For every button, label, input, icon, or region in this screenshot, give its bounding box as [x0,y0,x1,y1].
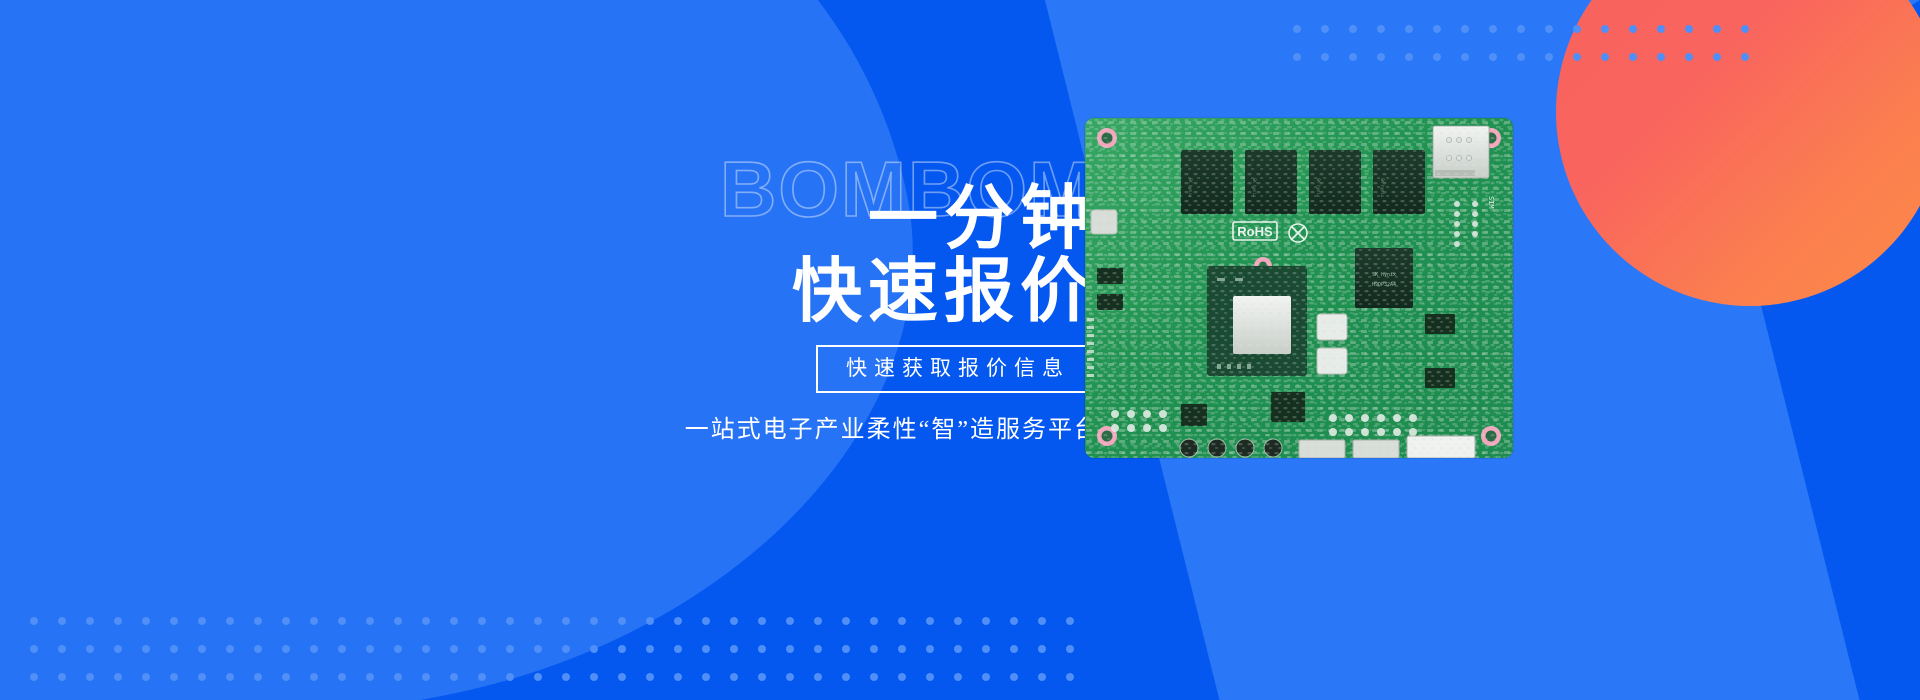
dot [226,673,234,681]
dot [842,673,850,681]
dot [1713,25,1721,33]
dot [1293,25,1301,33]
dot [1489,25,1497,33]
dot [282,673,290,681]
dot [366,673,374,681]
dot [982,645,990,653]
dot [1741,25,1749,33]
dot-row [1293,25,1769,33]
dot [1685,53,1693,61]
dot [590,617,598,625]
dot [1629,53,1637,61]
dot [730,617,738,625]
dot [1349,53,1357,61]
dot [534,617,542,625]
dot [310,617,318,625]
dot [1377,53,1385,61]
dot [730,645,738,653]
dot [926,645,934,653]
dot [1629,25,1637,33]
hero-copy-block: BOMBOM 一分钟 快速报价 快速获取报价信息 一站式电子产业柔性“智”造服务… [680,150,1100,444]
dot [198,645,206,653]
dot [450,645,458,653]
dot [226,617,234,625]
dot [1038,673,1046,681]
dot [702,617,710,625]
dot [366,645,374,653]
dot [450,673,458,681]
dot [1601,53,1609,61]
dot [814,617,822,625]
dot [394,673,402,681]
dot [310,673,318,681]
dot [1038,617,1046,625]
dot [114,673,122,681]
dot [30,617,38,625]
dot [86,617,94,625]
dot [506,645,514,653]
dot [30,673,38,681]
dot [1377,25,1385,33]
dot [590,645,598,653]
dot [814,673,822,681]
dot [786,645,794,653]
dot [1517,53,1525,61]
dot [1713,53,1721,61]
dot [926,617,934,625]
dot [254,673,262,681]
dot [786,617,794,625]
dot [198,673,206,681]
dot [590,673,598,681]
dot [842,617,850,625]
dot [562,673,570,681]
dot [1321,53,1329,61]
dot [254,617,262,625]
dot [394,645,402,653]
dot [338,617,346,625]
dot [1066,645,1074,653]
dot [58,645,66,653]
dot [618,673,626,681]
dot [534,673,542,681]
dot [170,645,178,653]
dot [170,673,178,681]
dot [898,645,906,653]
dot [674,617,682,625]
dot [422,645,430,653]
dot [114,645,122,653]
dot [898,673,906,681]
dot [1657,25,1665,33]
dot [394,617,402,625]
dot [506,617,514,625]
dot [1545,53,1553,61]
pcb-circuit-board-image: SK hynix SK hynix SK hynix SK hynix SIM [1085,118,1513,458]
dot [282,617,290,625]
dot [870,673,878,681]
dot [1657,53,1665,61]
dot [226,645,234,653]
dot [954,645,962,653]
pcb-artwork: SK hynix SK hynix SK hynix SK hynix SIM [1085,118,1513,458]
dot [954,617,962,625]
dot [646,673,654,681]
dot [758,673,766,681]
dot [1741,53,1749,61]
dot [758,617,766,625]
dot-row [1293,53,1769,61]
dot [562,645,570,653]
dot [338,673,346,681]
dot [702,645,710,653]
dot [1461,53,1469,61]
dot [30,645,38,653]
dot [898,617,906,625]
dot [870,645,878,653]
dot [954,673,962,681]
dot [758,645,766,653]
dot [1685,25,1693,33]
dot [646,645,654,653]
dot [618,645,626,653]
dot [646,617,654,625]
dot [58,617,66,625]
dot [982,673,990,681]
hero-banner: BOMBOM 一分钟 快速报价 快速获取报价信息 一站式电子产业柔性“智”造服务… [0,0,1920,700]
dot [282,645,290,653]
dot [86,645,94,653]
dot [1545,25,1553,33]
get-quote-button[interactable]: 快速获取报价信息 [816,345,1100,393]
dot [142,617,150,625]
dot [534,645,542,653]
dot-row [30,673,1094,681]
dot [170,617,178,625]
dot [1461,25,1469,33]
dot [1038,645,1046,653]
dot [478,617,486,625]
dot [1010,617,1018,625]
dot-grid-bottom-left [30,617,1094,700]
dot [254,645,262,653]
dot [1293,53,1301,61]
dot [310,645,318,653]
dot [870,617,878,625]
dot [142,645,150,653]
dot [1489,53,1497,61]
dot [1573,25,1581,33]
dot [422,617,430,625]
dot [618,617,626,625]
dot [814,645,822,653]
dot [338,645,346,653]
dot [478,673,486,681]
dot [450,617,458,625]
dot [786,673,794,681]
dot [114,617,122,625]
dot [1517,25,1525,33]
dot-row [30,645,1094,653]
dot [674,645,682,653]
dot [1405,25,1413,33]
dot [562,617,570,625]
dot [198,617,206,625]
dot [926,673,934,681]
dot [1573,53,1581,61]
dot [1066,617,1074,625]
tagline-text: 一站式电子产业柔性“智”造服务平台 [680,409,1100,444]
dot [1601,25,1609,33]
dot [1405,53,1413,61]
dot-row [30,617,1094,625]
dot [506,673,514,681]
dot [58,673,66,681]
dot [1010,645,1018,653]
dot [842,645,850,653]
dot [142,673,150,681]
dot [1066,673,1074,681]
dot [1349,25,1357,33]
dot [1321,25,1329,33]
dot [478,645,486,653]
dot [730,673,738,681]
dot [422,673,430,681]
headline-line-2: 快速报价 [680,257,1100,326]
dot [674,673,682,681]
dot [982,617,990,625]
dot [702,673,710,681]
dot [1433,53,1441,61]
dot-grid-top-right [1293,25,1769,61]
dot [1433,25,1441,33]
dot [1010,673,1018,681]
dot [86,673,94,681]
dot [366,617,374,625]
